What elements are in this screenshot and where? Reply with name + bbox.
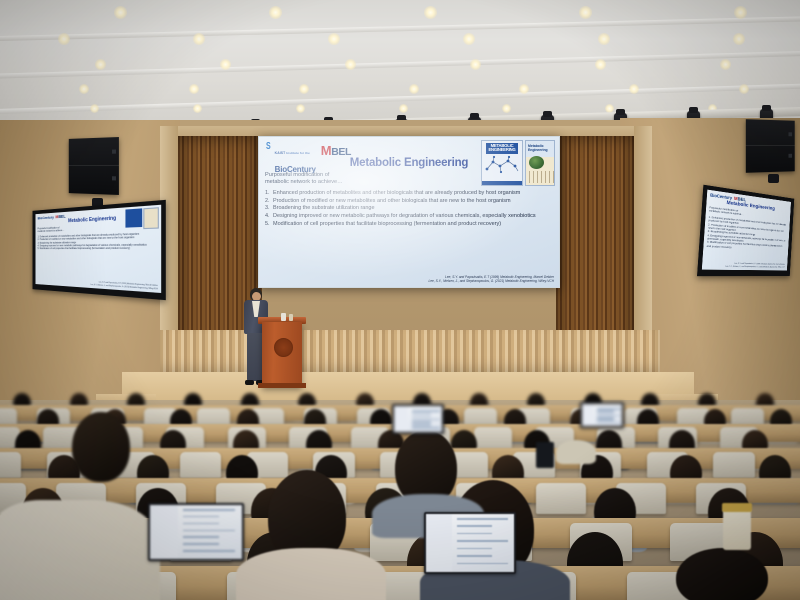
ceiling-downlight: [519, 84, 529, 94]
ceiling-downlight: [739, 84, 749, 94]
laptop-sidebar: [394, 406, 408, 432]
laptop-text-line: [412, 413, 432, 415]
laptop-screen: [394, 406, 442, 432]
slide-bullet-number: 4.: [265, 213, 270, 220]
laptop-text-line: [183, 509, 236, 511]
slide-citation: Lee, S.Y., Nielsen, J., and Stephanopoul…: [429, 279, 554, 284]
slide-bullet-item: 3.Broadening the substrate utilization r…: [265, 205, 553, 212]
laptop-text-line: [597, 413, 614, 415]
left-monitor-screen: BioCentury MBEL Metabolic Engineering Pu…: [35, 205, 161, 293]
slide-bullet-item: 5.Modification of cell properties that f…: [265, 221, 553, 228]
mbel-m: M: [321, 143, 331, 158]
speaker-led: [112, 150, 116, 154]
left-monitor-slide: BioCentury MBEL Metabolic Engineering Pu…: [35, 205, 161, 293]
slide-bullet-item: 2.Production of modified or new metaboli…: [265, 198, 553, 205]
mini-bullet-list-r: 1. Enhanced production of metabolites an…: [707, 215, 788, 251]
mbel-rest: BEL: [331, 146, 351, 158]
audience-seat-back: [474, 427, 512, 450]
laptop-text-line: [183, 523, 219, 525]
audience-seat-back: [0, 452, 21, 478]
ceiling-downlight: [95, 59, 106, 70]
ceiling-downlight: [345, 59, 356, 70]
ceiling-downlight: [502, 104, 511, 113]
audience-laptop: [148, 503, 244, 561]
slide-bullet-text: Designing improved or new metabolic path…: [273, 213, 536, 219]
laptop-text-line: [597, 417, 614, 419]
laptop-text-line: [412, 427, 441, 429]
mini-mbel-rest: BEL: [58, 214, 65, 219]
audience-phone: [536, 442, 554, 468]
slide-bullet-number: 1.: [265, 190, 270, 197]
ceiling-downlight: [463, 33, 475, 45]
institute-label: Institute for the: [286, 151, 310, 155]
laptop-text-line: [597, 410, 614, 412]
audience-cap: [556, 440, 596, 464]
slide-citations: Lee, S.Y. and Papoutsakis, E.T (1999) Me…: [429, 275, 554, 284]
speaker-mount-right: [768, 174, 779, 183]
ceiling-band: [0, 49, 800, 80]
audience-laptop: [392, 404, 444, 434]
presenter-shoe-left: [245, 380, 254, 385]
laptop-sidebar: [150, 505, 178, 559]
laptop-screen: [150, 505, 242, 559]
laptop-text-line: [183, 543, 219, 545]
book1-title-line2: ENGINEERING: [488, 147, 515, 152]
laptop-text-line: [597, 408, 621, 410]
laptop-text-line: [457, 518, 508, 520]
mini-bullet-list: 1. Enhanced production of metabolites an…: [38, 232, 158, 251]
speaker-led: [112, 176, 116, 180]
ceiling-downlight: [79, 84, 89, 94]
audience-jar: [723, 508, 751, 550]
slide-bullet-text: Enhanced production of metabolites and o…: [273, 190, 520, 196]
wall-speaker-right: [746, 119, 795, 173]
mini-book-2: [143, 207, 159, 229]
laptop-text-line: [412, 419, 441, 421]
laptop-text-line: [457, 563, 508, 565]
wall-speaker-left: [69, 137, 119, 195]
ceiling-downlight: [269, 6, 282, 19]
mini-book-1: [125, 208, 142, 227]
podium-emblem-icon: [274, 338, 293, 357]
mini-books: [125, 207, 158, 230]
ceiling-downlight: [598, 33, 610, 45]
laptop-text-line: [457, 540, 508, 542]
book-cover-2021: Metabolic Engineering: [525, 140, 555, 186]
mini-citation: Lee, S.Y., Nielsen, J., and Stephanopoul…: [725, 265, 784, 268]
ceiling-downlight: [579, 6, 592, 19]
audience-laptop: [424, 512, 516, 574]
swoosh-icon: S: [266, 141, 271, 152]
book1-footer: [482, 181, 522, 185]
projection-screen: S KAIST Institute for the BioCentury MBE…: [259, 137, 559, 287]
stage-backdrop-curtain: [160, 330, 660, 376]
laptop-text-line: [183, 530, 236, 532]
audience-head-foreground: [676, 548, 768, 600]
laptop-text-line: [412, 424, 432, 426]
laptop-text-line: [597, 419, 614, 421]
ceiling-downlight: [220, 59, 231, 70]
mini-citations-r: Lee, S.Y. and Papoutsakis, E.T (1999) Me…: [725, 263, 784, 269]
ceiling-downlight: [114, 6, 127, 19]
laptop-text-line: [457, 525, 492, 527]
audience-head-foreground: [72, 412, 130, 482]
laptop-text-line: [183, 516, 219, 518]
speaker-led: [788, 132, 792, 136]
ceiling-downlight: [296, 104, 305, 113]
right-monitor-slide: BioCentury MBEL Metabolic Engineering Pu…: [702, 190, 791, 271]
slide-bullet-number: 2.: [265, 198, 270, 205]
laptop-text-line: [597, 422, 621, 424]
slide-bullet-text: Production of modified or new metabolite…: [273, 198, 511, 204]
podium: [262, 322, 302, 387]
audience-seat-back: [536, 483, 586, 514]
book2-title-line2: Engineering: [528, 148, 548, 152]
laptop-text-line: [183, 536, 219, 538]
slide-bullet-number: 3.: [265, 205, 270, 212]
laptop-text-line: [412, 421, 432, 423]
laptop-text-line: [597, 415, 621, 417]
mini-sub2: metabolic network to achieve…: [38, 229, 65, 233]
mbel-logo: MBEL: [321, 144, 351, 158]
right-monitor-screen: BioCentury MBEL Metabolic Engineering Pu…: [702, 190, 791, 271]
slide-book-covers: METABOLIC ENGINEERING: [481, 140, 555, 186]
laptop-text-line: [412, 416, 432, 418]
book2-title: Metabolic Engineering: [526, 141, 554, 152]
laptop-sidebar: [582, 404, 594, 426]
ceiling-downlight: [424, 6, 437, 19]
laptop-text-line: [183, 550, 236, 552]
right-confidence-monitor: BioCentury MBEL Metabolic Engineering Pu…: [697, 185, 794, 276]
laptop-text-line: [457, 533, 492, 535]
laptop-screen: [426, 514, 514, 572]
slide-bullet-list: 1.Enhanced production of metabolites and…: [265, 190, 553, 228]
ceiling-downlight: [193, 104, 202, 113]
ceiling-downlight: [734, 6, 747, 19]
ceiling-downlight: [399, 104, 408, 113]
laptop-screen: [582, 404, 622, 426]
ceiling-downlight: [720, 59, 731, 70]
podium-bottle: [289, 314, 293, 321]
mini-citations: Lee, S.Y. and Papoutsakis, E.T (1999) Me…: [91, 281, 158, 290]
slide-bullet-item: 4.Designing improved or new metabolic pa…: [265, 213, 553, 220]
audience-laptop: [580, 402, 624, 428]
laptop-text-line: [457, 548, 492, 550]
slide-bullet-text: Broadening the substrate utilization ran…: [273, 205, 375, 211]
speaker-led: [788, 154, 792, 158]
ceiling-downlight: [193, 33, 205, 45]
audience-seat-back: [180, 452, 221, 478]
auditorium-photo: S KAIST Institute for the BioCentury MBE…: [0, 0, 800, 600]
bioreactor-globe-icon: [529, 156, 544, 169]
ceiling-downlight: [189, 84, 199, 94]
ceiling-downlight: [58, 33, 70, 45]
podium-base: [258, 383, 306, 388]
projection-screen-frame: S KAIST Institute for the BioCentury MBE…: [258, 136, 560, 288]
slide-bullet-item: 1.Enhanced production of metabolites and…: [265, 190, 553, 197]
mini-bullet-item: 5. Modification of cell properties that …: [38, 247, 158, 251]
ceiling-downlight: [409, 84, 419, 94]
slide-bullet-text: Modification of cell properties that fac…: [273, 221, 501, 227]
ceiling-downlight: [629, 84, 639, 94]
kaist-label: KAIST: [275, 151, 286, 155]
left-confidence-monitor: BioCentury MBEL Metabolic Engineering Pu…: [33, 200, 166, 300]
ceiling-downlight: [90, 104, 99, 113]
audience-jar-lid: [722, 503, 752, 512]
ceiling-downlight: [328, 33, 340, 45]
audience-seat-back: [713, 452, 754, 478]
laptop-text-line: [457, 555, 492, 557]
laptop-sidebar: [426, 514, 452, 572]
ceiling-downlight: [595, 59, 606, 70]
slide-bullet-number: 5.: [265, 221, 270, 228]
book-cover-1999: METABOLIC ENGINEERING: [481, 140, 523, 186]
podium-cup: [281, 313, 286, 321]
ceiling-downlight: [733, 33, 745, 45]
audience-shoulders-foreground: [236, 548, 386, 600]
book1-title: METABOLIC ENGINEERING: [486, 143, 517, 154]
presentation-slide: S KAIST Institute for the BioCentury MBE…: [259, 137, 559, 287]
ceiling-downlight: [299, 84, 309, 94]
audience-sweater-foreground: [0, 500, 160, 600]
laptop-text-line: [412, 410, 441, 412]
network-svg: [482, 154, 522, 176]
ceiling-downlight: [470, 59, 481, 70]
kaist-wordmark: KAIST Institute for the: [275, 151, 310, 155]
pathway-diagram-icon: [482, 154, 522, 181]
bioreactor-tanks-icon: [526, 171, 554, 183]
mini-mbel: MBEL: [55, 214, 65, 219]
